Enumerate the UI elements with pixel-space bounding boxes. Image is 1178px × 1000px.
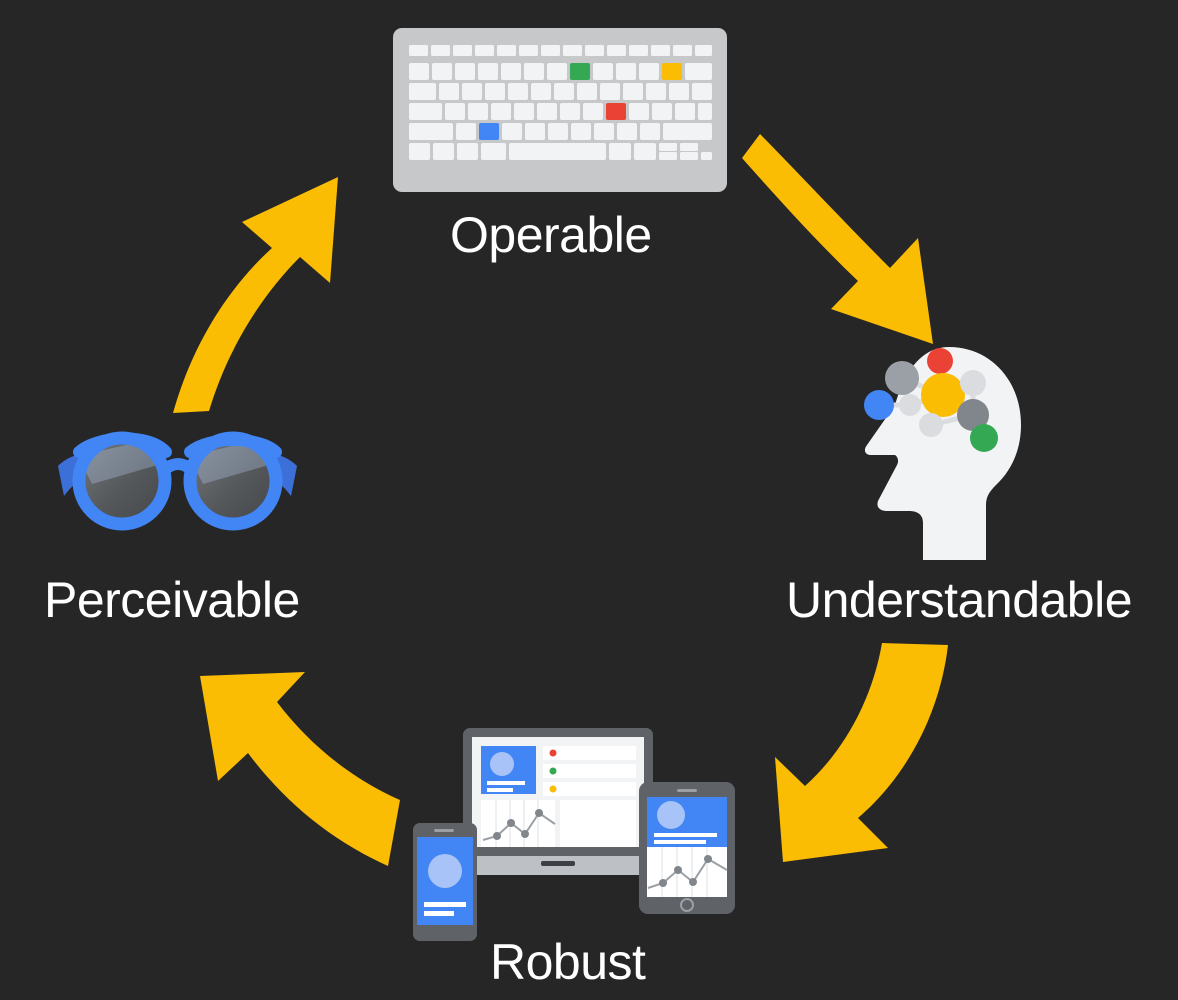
brain-node-lightgray-lo	[919, 413, 943, 437]
node-label-perceivable: Perceivable	[44, 575, 300, 625]
keyboard-key-green	[570, 63, 590, 80]
laptop-chart-panel	[481, 800, 555, 847]
brain-node-red	[927, 348, 953, 374]
brain-node-green	[970, 424, 998, 452]
brain-node-blue	[864, 390, 894, 420]
device-tablet	[639, 782, 735, 914]
laptop-list-dot-red	[550, 750, 557, 757]
head-brain-network-icon	[853, 345, 1031, 560]
tablet-chart-panel	[647, 847, 727, 897]
arrow-perceivable-to-operable	[173, 177, 338, 413]
device-phone	[413, 823, 477, 941]
multi-device-icon	[405, 718, 755, 943]
phone-speaker	[434, 829, 454, 832]
arrow-robust-to-perceivable	[200, 672, 400, 866]
laptop-trackpad	[541, 861, 575, 866]
laptop-list-row	[543, 746, 636, 760]
device-laptop	[455, 728, 661, 875]
keyboard-icon	[393, 28, 727, 192]
diagram-canvas: Operable Understandable Robust Perceivab…	[0, 0, 1178, 1000]
arrow-operable-to-understandable	[742, 134, 933, 344]
laptop-list-dot-yellow	[550, 786, 557, 793]
laptop-blank-panel	[560, 800, 636, 847]
tablet-speaker	[677, 789, 697, 792]
brain-node-lightgray-sm	[899, 394, 921, 416]
tablet-avatar	[657, 801, 685, 829]
laptop-list-dot-green	[550, 768, 557, 775]
keyboard-key-red	[606, 103, 626, 120]
arrow-understandable-to-robust	[775, 643, 948, 862]
brain-node-gray-large	[885, 361, 919, 395]
keyboard-key-blue	[479, 123, 499, 140]
glasses-bridge	[164, 464, 192, 470]
node-label-understandable: Understandable	[786, 575, 1132, 625]
laptop-card-avatar	[490, 752, 514, 776]
keyboard-key-yellow	[662, 63, 682, 80]
glasses-icon	[48, 422, 306, 532]
node-label-robust: Robust	[490, 937, 645, 987]
laptop-list-row	[543, 764, 636, 778]
node-label-operable: Operable	[450, 210, 652, 260]
laptop-list-row	[543, 782, 636, 796]
phone-avatar	[428, 854, 462, 888]
brain-node-lightgray-md	[960, 370, 986, 396]
